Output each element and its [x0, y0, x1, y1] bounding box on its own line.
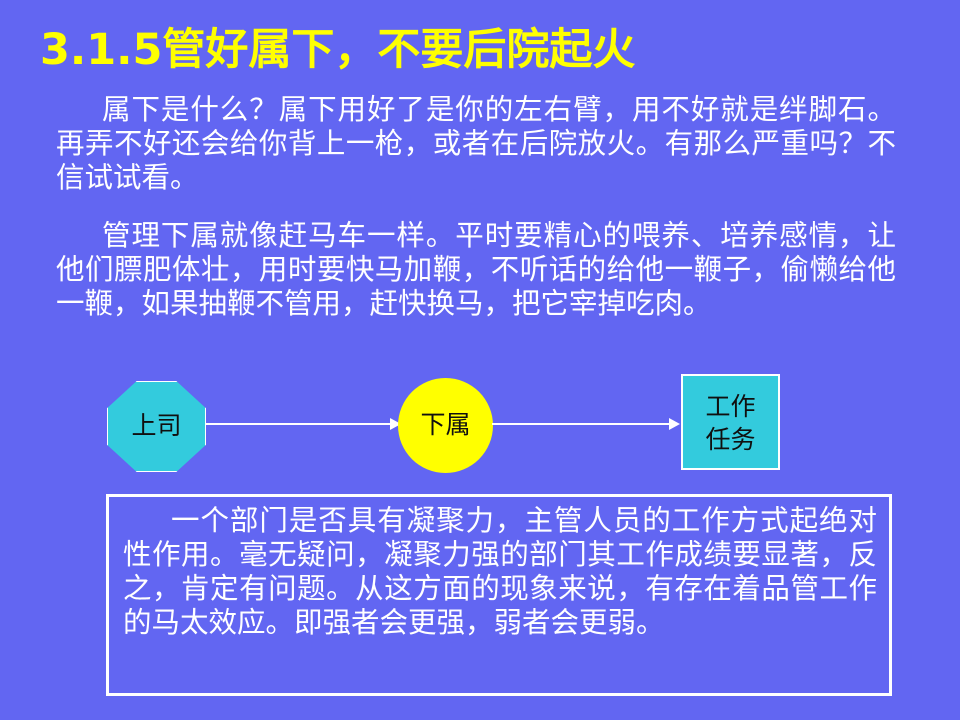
body-paragraph-2: 管理下属就像赶马车一样。平时要精心的喂养、培养感情，让他们膘肥体壮，用时要快马加…: [56, 219, 896, 321]
note-box-text: 一个部门是否具有凝聚力，主管人员的工作方式起绝对性作用。毫无疑问，凝聚力强的部门…: [123, 504, 877, 640]
diagram-node-boss-shape[interactable]: [107, 381, 206, 472]
body-paragraph-1: 属下是什么？属下用好了是你的左右臂，用不好就是绊脚石。再弄不好还会给你背上一枪，…: [56, 93, 896, 195]
arrow-boss-to-subordinate-line: [205, 423, 392, 425]
arrow-subordinate-to-task-line: [492, 423, 671, 425]
diagram-node-task-shape[interactable]: [681, 374, 780, 470]
note-box: 一个部门是否具有凝聚力，主管人员的工作方式起绝对性作用。毫无疑问，凝聚力强的部门…: [106, 494, 892, 696]
arrow-subordinate-to-task-head-icon: [669, 418, 680, 430]
diagram-node-subordinate-shape[interactable]: [398, 378, 493, 473]
slide-canvas: 3.1.5管好属下，不要后院起火 属下是什么？属下用好了是你的左右臂，用不好就是…: [0, 0, 960, 720]
slide-title: 3.1.5管好属下，不要后院起火: [40, 24, 920, 76]
